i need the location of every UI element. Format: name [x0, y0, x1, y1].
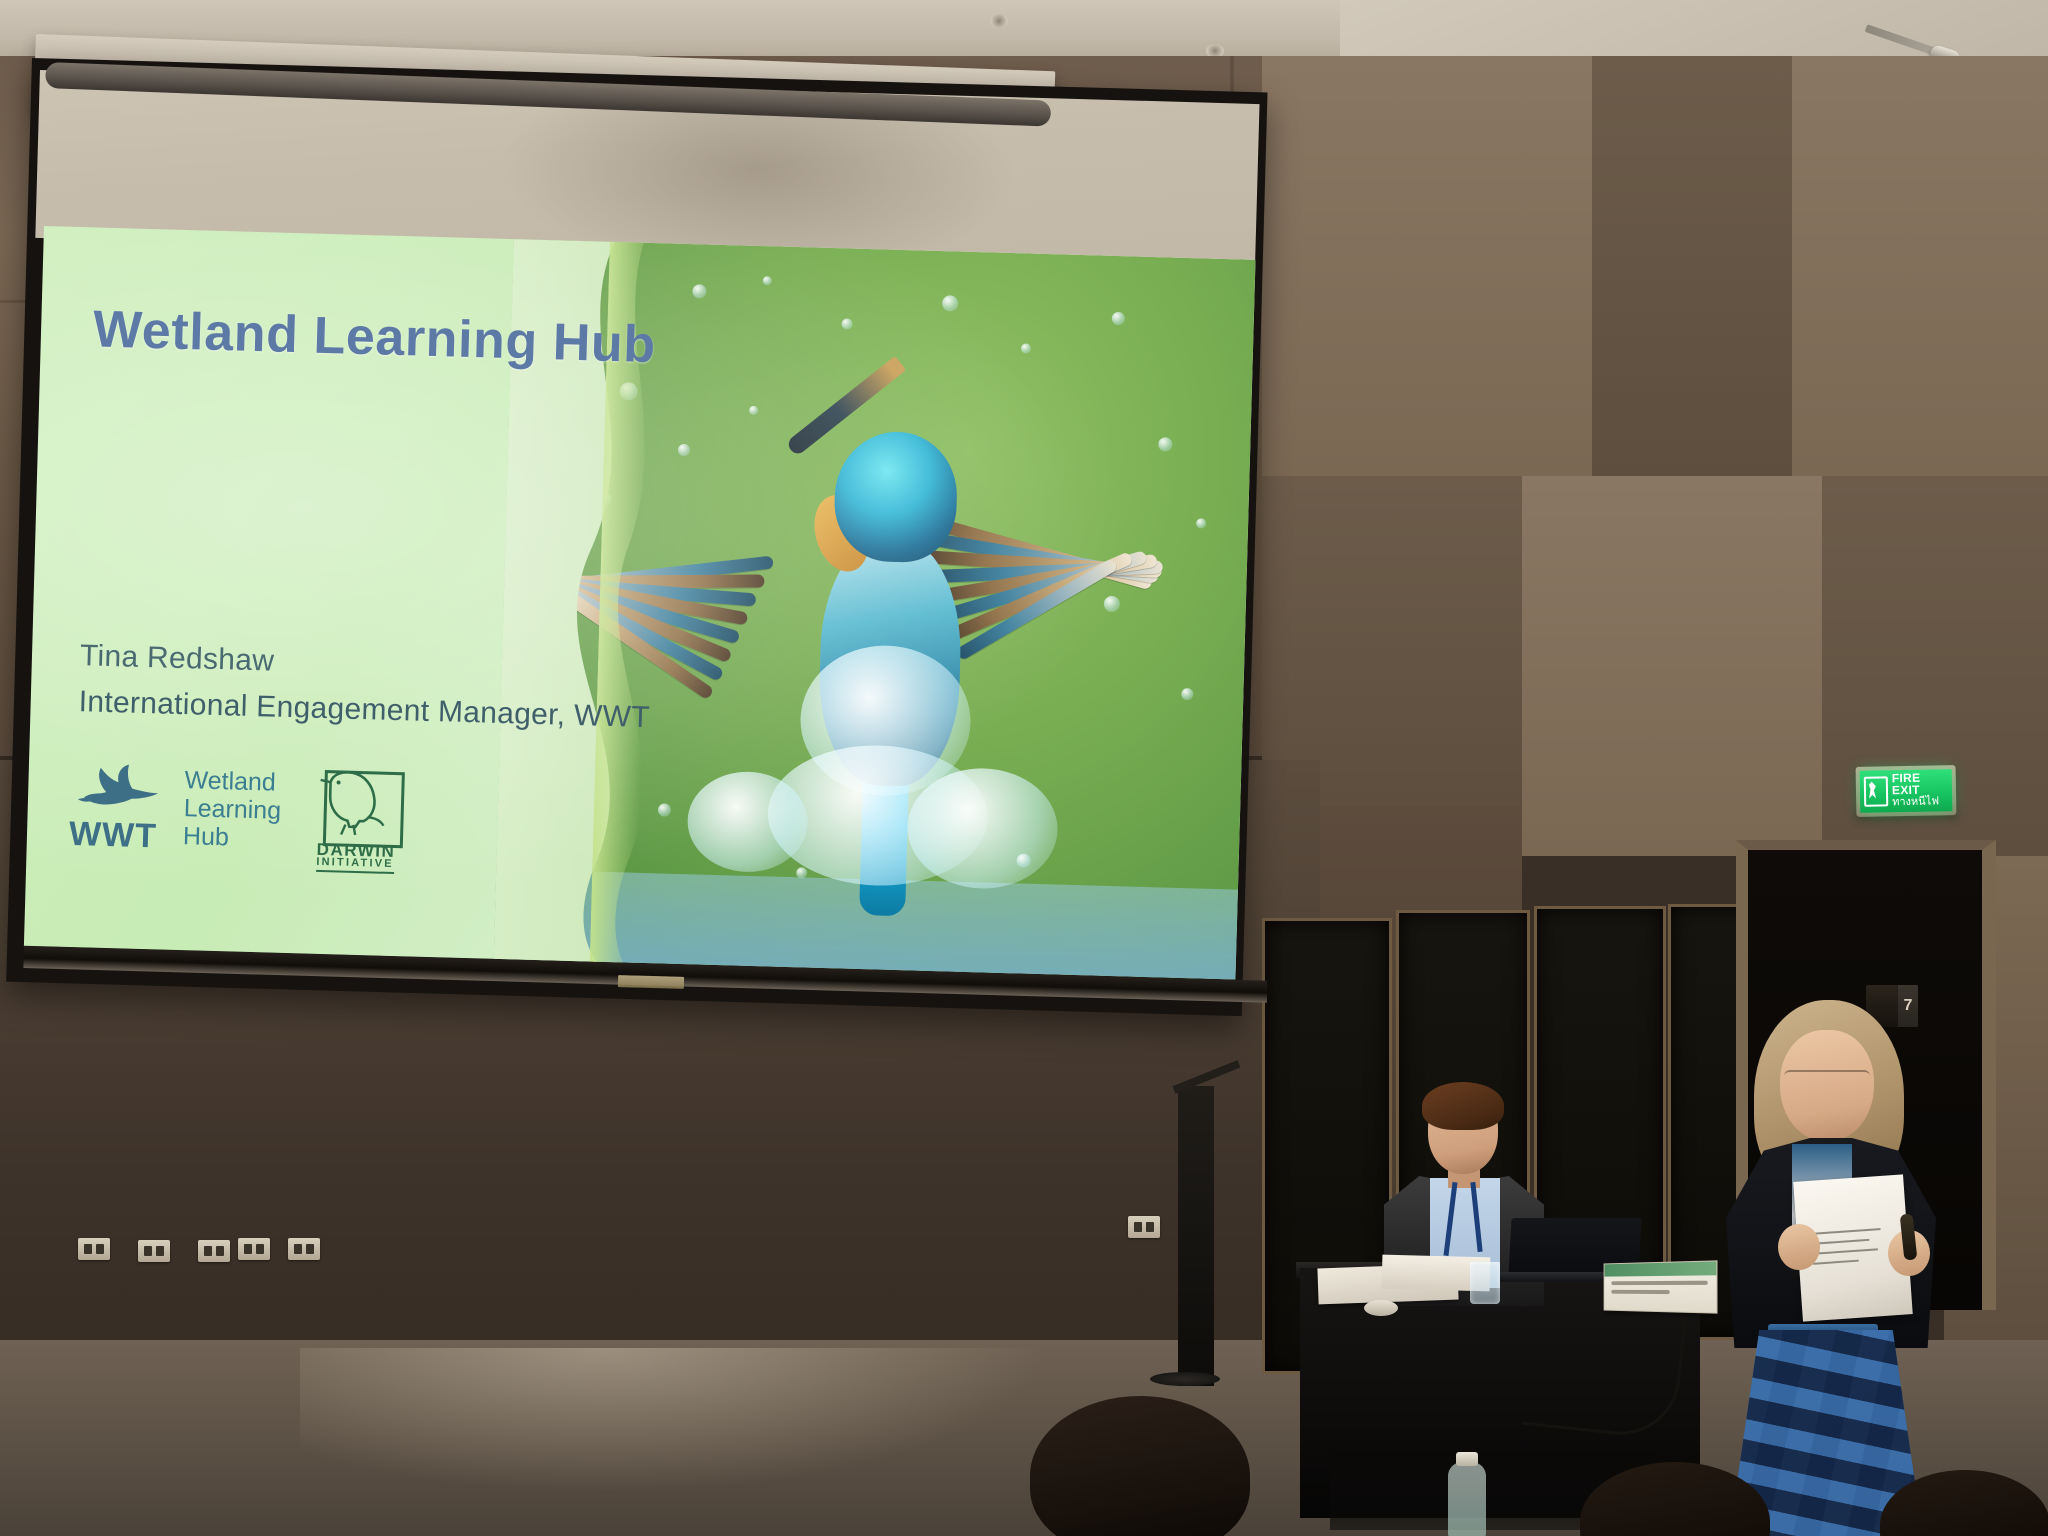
presentation-slide: Wetland Learning Hub Tina Redshaw Intern… — [24, 226, 1256, 980]
screen-brand-plate — [618, 975, 684, 989]
computer-mouse[interactable] — [1364, 1300, 1398, 1316]
fire-exit-face: FIRE EXIT ทางหนีไฟ — [1860, 769, 1953, 813]
slide-logo-group: WWT Wetland Learning Hub DARWIN INITIATI… — [62, 757, 395, 886]
wall-socket — [138, 1240, 170, 1262]
mic-stand-base — [1150, 1372, 1220, 1386]
wwt-acronym: WWT — [68, 815, 157, 856]
darwin-initiative-logo: DARWIN INITIATIVE — [310, 766, 409, 873]
darwin-title-line2: INITIATIVE — [316, 856, 394, 870]
fire-exit-label-en: FIRE EXIT — [1892, 772, 1948, 797]
fire-exit-label-th: ทางหนีไฟ — [1892, 796, 1948, 810]
glasses-icon — [1784, 1070, 1870, 1086]
face — [1780, 1030, 1874, 1142]
wall-socket — [198, 1240, 230, 1262]
wall-panel — [1792, 56, 2048, 476]
running-person-exit-icon — [1864, 776, 1889, 806]
conference-room-scene: 7 FIRE EXIT ทางหนีไฟ — [0, 0, 2048, 1536]
wordmark-line-3: Hub — [183, 822, 281, 853]
fire-exit-sign: FIRE EXIT ทางหนีไฟ — [1856, 765, 1957, 817]
ceiling-fixture — [990, 14, 1008, 28]
wall-socket — [238, 1238, 270, 1260]
wall-socket — [1128, 1216, 1160, 1238]
wwt-wordmark: Wetland Learning Hub — [183, 766, 283, 853]
bottle-cap — [1456, 1452, 1478, 1466]
finch-bird-icon — [315, 766, 391, 838]
placard-header-band — [1604, 1261, 1716, 1276]
speaker-column — [1178, 1086, 1214, 1386]
water-glass — [1470, 1262, 1500, 1304]
wordmark-line-1: Wetland — [184, 766, 282, 797]
flying-swan-icon — [76, 761, 161, 815]
wall-panel — [1262, 56, 1592, 476]
wall-socket — [78, 1238, 110, 1260]
wall-panel — [1592, 56, 1792, 476]
fire-exit-text: FIRE EXIT ทางหนีไฟ — [1892, 772, 1949, 810]
standing-speaker — [1706, 1008, 1976, 1536]
kingfisher-bird-icon — [645, 339, 1130, 912]
slide-presenter-name: Tina Redshaw — [80, 639, 275, 678]
wall-panel — [1522, 476, 1822, 856]
wall-socket — [288, 1238, 320, 1260]
darwin-rule — [316, 870, 394, 874]
placard-text-line — [1611, 1281, 1707, 1285]
name-placard — [1604, 1260, 1718, 1313]
floor-light-reflection — [300, 1348, 1060, 1498]
hand — [1778, 1224, 1820, 1270]
kingfisher-head — [833, 430, 959, 563]
wall-panel — [1262, 476, 1522, 806]
wordmark-line-2: Learning — [183, 794, 281, 825]
placard-text-line — [1611, 1290, 1669, 1294]
water-bottle — [1448, 1462, 1486, 1536]
hair — [1422, 1082, 1504, 1130]
lower-wall — [0, 980, 1320, 1400]
